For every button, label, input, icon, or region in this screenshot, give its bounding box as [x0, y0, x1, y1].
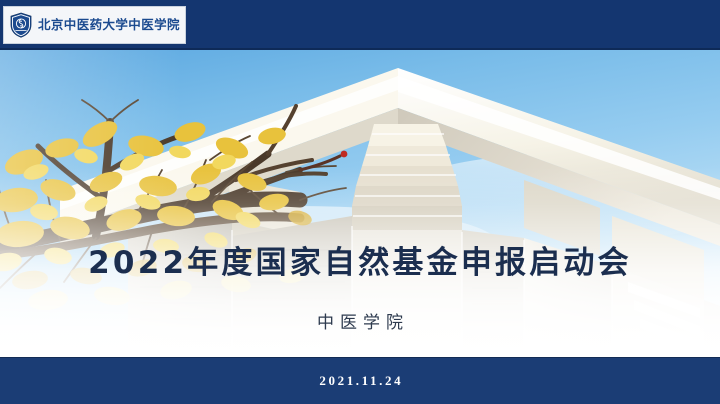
- photo-scene-illustration: [0, 50, 720, 357]
- university-logo-text: 北京中医药大学中医学院: [38, 19, 180, 32]
- university-shield-emblem-icon: [9, 12, 33, 38]
- bottom-bar-edge: [0, 357, 720, 358]
- slide-date: 2021.11.24: [0, 374, 720, 387]
- university-logo-plate: 北京中医药大学中医学院: [3, 6, 186, 44]
- slide-main-title: 2022年度国家自然基金申报启动会: [0, 248, 720, 279]
- hero-photo: [0, 50, 720, 357]
- slide-subtitle: 中医学院: [0, 315, 720, 332]
- presentation-title-slide: 北京中医药大学中医学院: [0, 0, 720, 404]
